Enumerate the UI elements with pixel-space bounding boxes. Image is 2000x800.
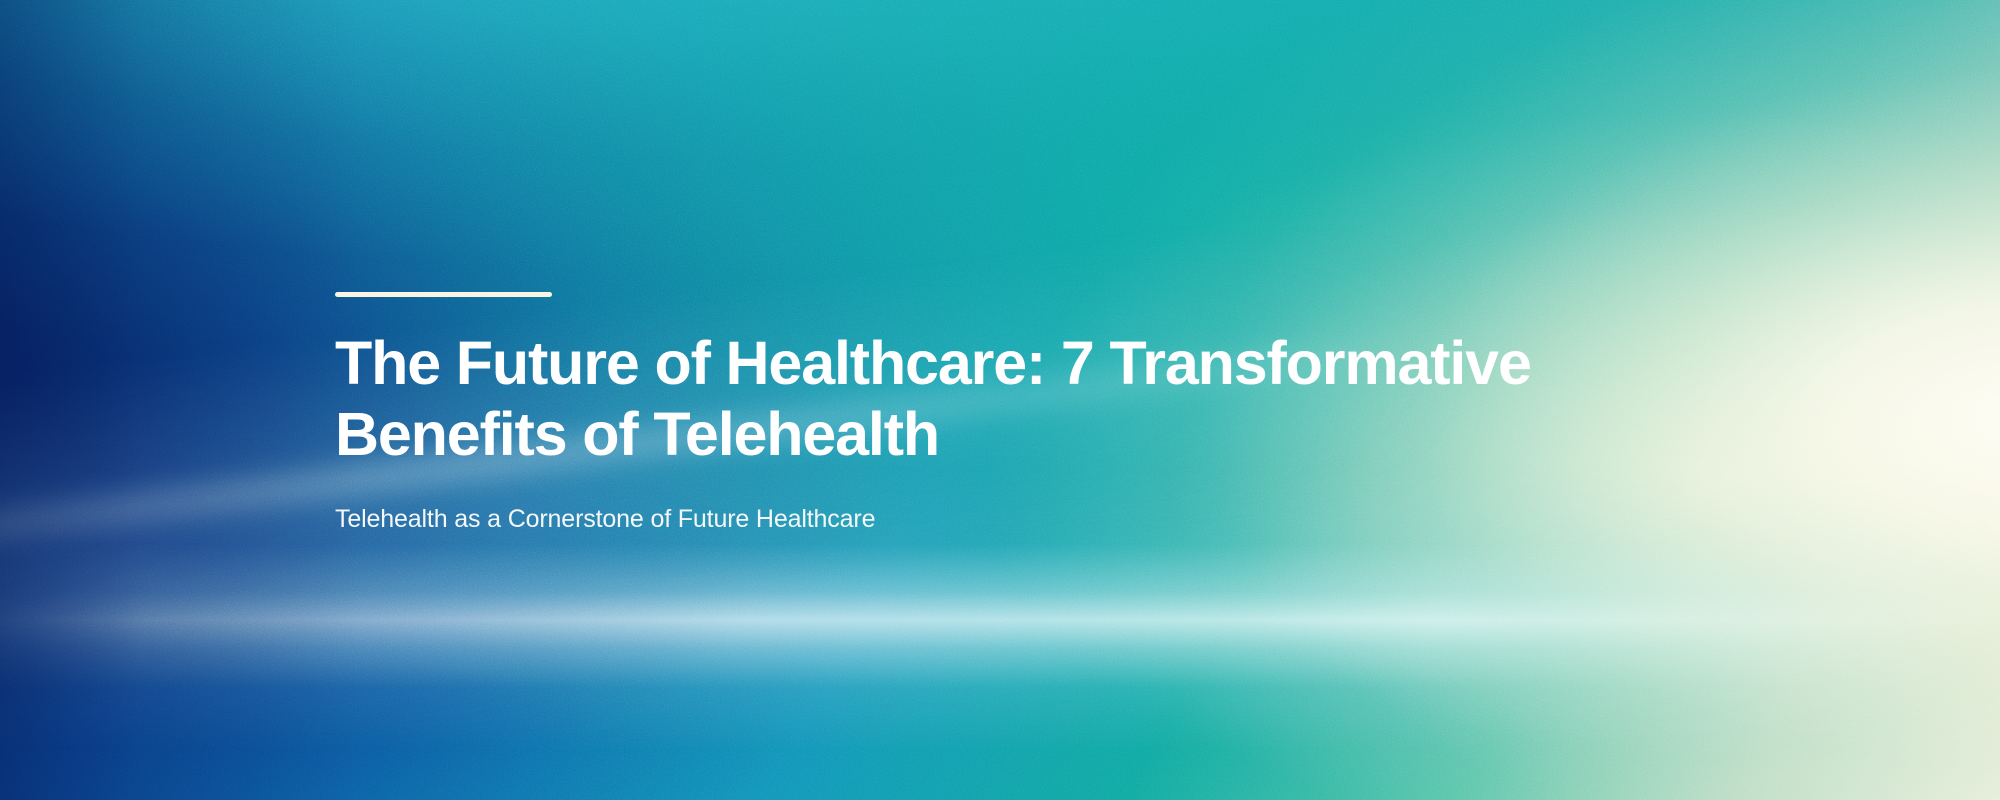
accent-rule-icon xyxy=(335,292,552,297)
page-subtitle: Telehealth as a Cornerstone of Future He… xyxy=(335,503,1795,535)
hero-banner: The Future of Healthcare: 7 Transformati… xyxy=(0,0,2000,800)
hero-content: The Future of Healthcare: 7 Transformati… xyxy=(335,292,1795,535)
page-title: The Future of Healthcare: 7 Transformati… xyxy=(335,328,1755,470)
